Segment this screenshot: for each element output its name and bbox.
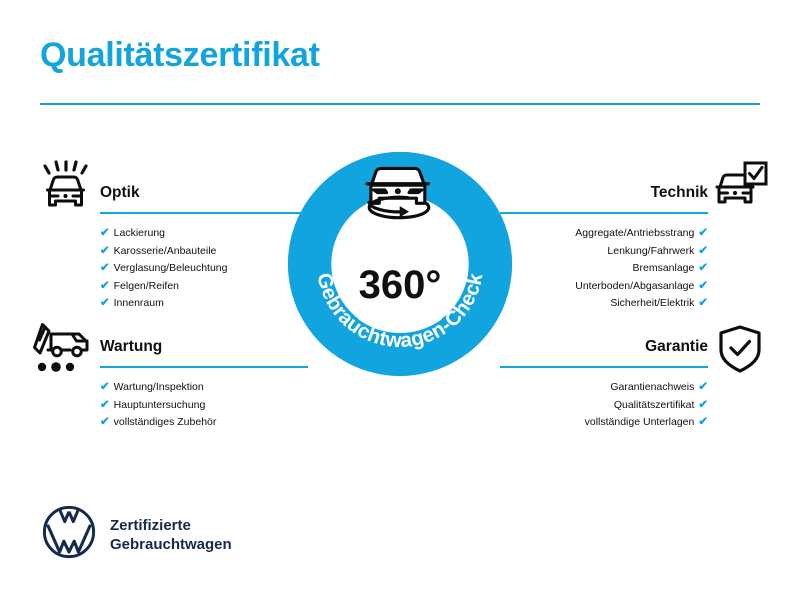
vw-lockup-text: Zertifizierte Gebrauchtwagen [110,516,232,554]
list-item: Garantienachweis ✔ [500,379,708,397]
section-optik-divider [100,212,308,214]
list-item-label: Sicherheit/Elektrik [610,295,694,313]
section-technik-list: Aggregate/Antriebsstrang ✔ Lenkung/Fahrw… [500,225,708,313]
shield-check-icon [716,324,764,379]
list-item-label: Aggregate/Antriebsstrang [575,225,694,243]
section-technik: Technik Aggregate/Antriebsstrang ✔ Lenku… [500,182,708,313]
list-item-label: Verglasung/Beleuchtung [114,260,228,278]
check-icon: ✔ [698,379,708,397]
section-wartung-divider [100,366,308,368]
list-item: ✔ Hauptuntersuchung [100,397,308,415]
list-item: Unterboden/Abgasanlage ✔ [500,278,708,296]
section-optik: Optik ✔ Lackierung ✔ Karosserie/Anbautei… [100,182,308,313]
section-wartung-list: ✔ Wartung/Inspektion ✔ Hauptuntersuchung… [100,379,308,432]
section-garantie: Garantie Garantienachweis ✔ Qualitätszer… [500,336,708,432]
page-title: Qualitätszertifikat [40,36,320,75]
section-technik-title: Technik [500,182,708,204]
list-item: Bremsanlage ✔ [500,260,708,278]
list-item: ✔ Verglasung/Beleuchtung [100,260,308,278]
check-icon: ✔ [100,243,110,261]
list-item: ✔ Lackierung [100,225,308,243]
check-icon: ✔ [698,414,708,432]
vw-logo-icon [42,505,96,564]
car-wrench-icon [32,320,92,381]
vw-lockup-line2: Gebrauchtwagen [110,535,232,554]
car-rotate-icon [367,168,429,217]
list-item-label: Qualitätszertifikat [614,397,695,415]
check-icon: ✔ [698,278,708,296]
car-shine-icon [36,160,90,219]
vw-lockup: Zertifizierte Gebrauchtwagen [42,505,232,564]
check-icon: ✔ [698,225,708,243]
list-item: Lenkung/Fahrwerk ✔ [500,243,708,261]
list-item-label: Hauptuntersuchung [114,397,206,415]
list-item-label: vollständiges Zubehör [114,414,217,432]
section-garantie-title: Garantie [500,336,708,358]
list-item-label: Bremsanlage [632,260,694,278]
list-item-label: Wartung/Inspektion [114,379,204,397]
list-item-label: Garantienachweis [610,379,694,397]
check-icon: ✔ [698,295,708,313]
check-icon: ✔ [100,278,110,296]
check-icon: ✔ [100,397,110,415]
list-item-label: Lackierung [114,225,165,243]
check-icon: ✔ [100,295,110,313]
check-icon: ✔ [698,243,708,261]
list-item: ✔ Wartung/Inspektion [100,379,308,397]
section-technik-divider [500,212,708,214]
list-item: vollständige Unterlagen ✔ [500,414,708,432]
section-technik-header: Technik [500,182,708,214]
list-item-label: Lenkung/Fahrwerk [607,243,694,261]
list-item-label: Innenraum [114,295,164,313]
360-check-badge: Gebrauchtwagen-Check 360° [288,152,512,376]
list-item-label: Felgen/Reifen [114,278,179,296]
check-icon: ✔ [100,225,110,243]
section-optik-title: Optik [100,182,308,204]
certificate-page: Qualitätszertifikat [0,0,800,600]
list-item: ✔ Felgen/Reifen [100,278,308,296]
check-icon: ✔ [698,260,708,278]
list-item-label: Unterboden/Abgasanlage [575,278,694,296]
check-icon: ✔ [100,379,110,397]
list-item: Sicherheit/Elektrik ✔ [500,295,708,313]
check-icon: ✔ [100,414,110,432]
list-item: ✔ vollständiges Zubehör [100,414,308,432]
list-item-label: vollständige Unterlagen [585,414,695,432]
section-optik-header: Optik [100,182,308,214]
section-garantie-divider [500,366,708,368]
list-item: Aggregate/Antriebsstrang ✔ [500,225,708,243]
list-item: Qualitätszertifikat ✔ [500,397,708,415]
check-icon: ✔ [698,397,708,415]
title-divider [40,103,760,105]
list-item: ✔ Innenraum [100,295,308,313]
list-item: ✔ Karosserie/Anbauteile [100,243,308,261]
badge-degrees-label: 360° [359,263,442,307]
section-optik-list: ✔ Lackierung ✔ Karosserie/Anbauteile ✔ V… [100,225,308,313]
section-garantie-list: Garantienachweis ✔ Qualitätszertifikat ✔… [500,379,708,432]
check-icon: ✔ [100,260,110,278]
section-garantie-header: Garantie [500,336,708,368]
section-wartung-header: Wartung [100,336,308,368]
section-wartung: Wartung ✔ Wartung/Inspektion ✔ Hauptunte… [100,336,308,432]
section-wartung-title: Wartung [100,336,308,358]
list-item-label: Karosserie/Anbauteile [114,243,217,261]
vw-lockup-line1: Zertifizierte [110,516,232,535]
car-checkbox-icon [712,160,768,219]
